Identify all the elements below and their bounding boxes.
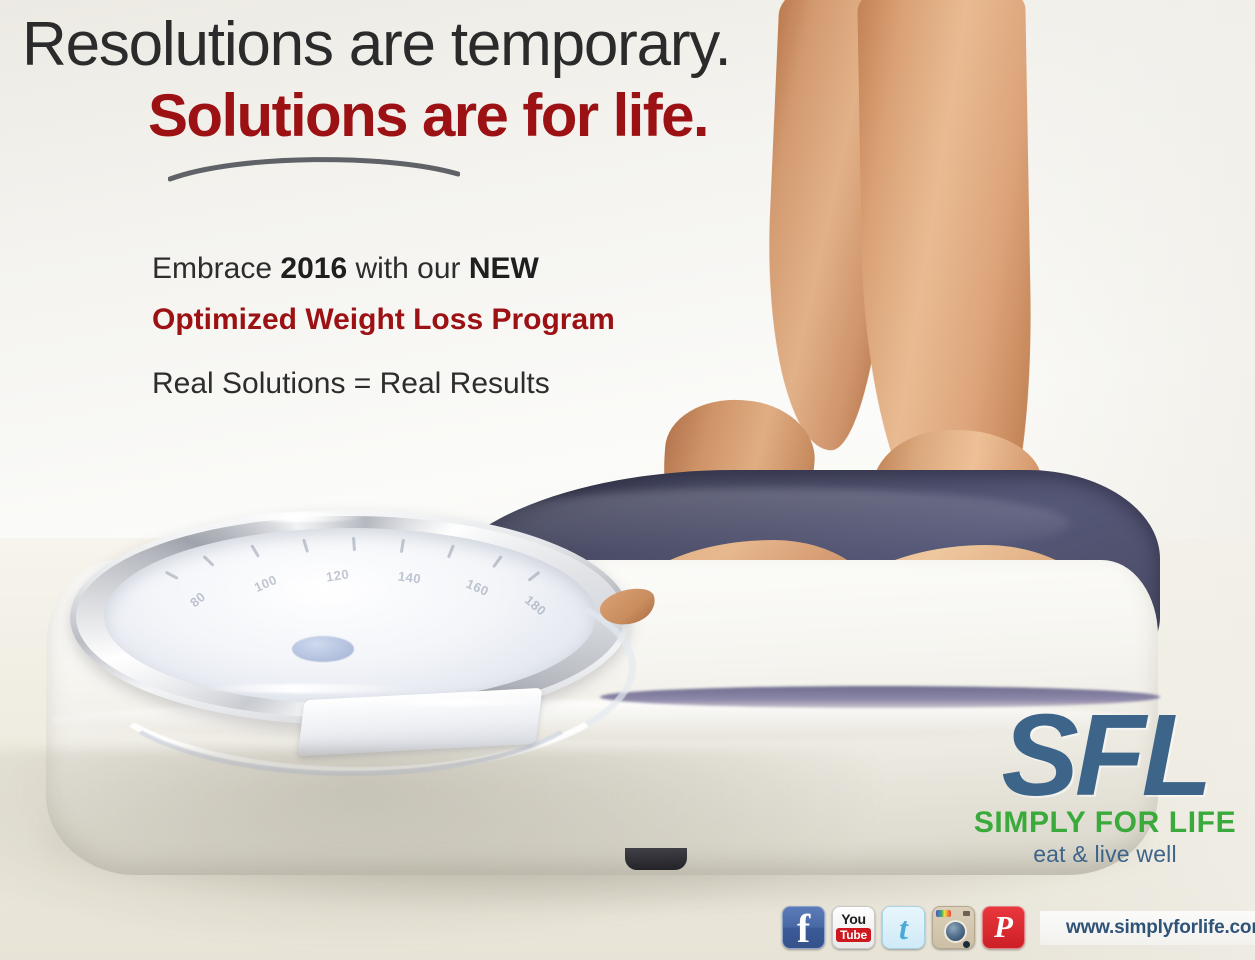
swoosh-underline-icon <box>168 152 460 186</box>
instagram-lens-center <box>963 941 970 948</box>
subhead-line-1: Embrace 2016 with our NEW <box>152 252 539 285</box>
subhead-program-name: Optimized Weight Loss Program <box>152 303 615 336</box>
dial-tick <box>400 539 405 553</box>
dial-tick <box>447 544 455 558</box>
dial-tick <box>250 544 260 558</box>
youtube-icon[interactable]: You Tube <box>832 906 875 949</box>
instagram-lens <box>944 920 967 943</box>
twitter-glyph: t <box>883 909 924 947</box>
website-url-box[interactable]: www.simplyforlife.com <box>1040 911 1255 945</box>
facebook-icon[interactable]: f <box>782 906 825 949</box>
subhead-new: NEW <box>469 252 539 285</box>
headline-primary: Resolutions are temporary. <box>22 14 731 76</box>
pinterest-icon[interactable]: P <box>982 906 1025 949</box>
youtube-you-text: You <box>841 913 866 926</box>
subhead-tagline: Real Solutions = Real Results <box>152 367 550 400</box>
subhead-year: 2016 <box>280 252 347 285</box>
chrome-flare-top <box>236 512 366 522</box>
dial-tick <box>165 571 179 580</box>
website-url-text: www.simplyforlife.com <box>1066 917 1255 939</box>
youtube-tube-text: Tube <box>836 928 871 942</box>
logo-monogram: SFL <box>962 700 1248 810</box>
dial-tick <box>202 555 214 567</box>
facebook-glyph: f <box>783 910 824 948</box>
floor-contact-shadow <box>0 749 879 941</box>
dial-tick <box>492 555 503 568</box>
twitter-icon[interactable]: t <box>882 906 925 949</box>
advertisement-poster: 80 100 120 140 160 180 Resolutions are t… <box>0 0 1255 960</box>
headline-secondary: Solutions are for life. <box>148 86 708 146</box>
instagram-flash <box>963 911 970 916</box>
social-footer-bar: f You Tube t P www.simplyforlife.com <box>782 906 1255 949</box>
instagram-rainbow-stripe <box>936 910 951 917</box>
dial-tick <box>528 571 541 582</box>
dial-tick <box>302 539 309 553</box>
subhead-middle: with our <box>347 252 469 285</box>
logo-tagline: eat & live well <box>962 841 1248 868</box>
chrome-flare-lower <box>200 684 410 693</box>
pinterest-glyph: P <box>983 908 1024 946</box>
logo-company-name: SIMPLY FOR LIFE <box>962 806 1248 839</box>
dial-tick <box>352 537 356 551</box>
subhead-prefix: Embrace <box>152 252 280 285</box>
instagram-icon[interactable] <box>932 906 975 949</box>
sfl-logo: SFL SIMPLY FOR LIFE eat & live well <box>962 700 1248 868</box>
chrome-flare-right <box>372 698 552 706</box>
